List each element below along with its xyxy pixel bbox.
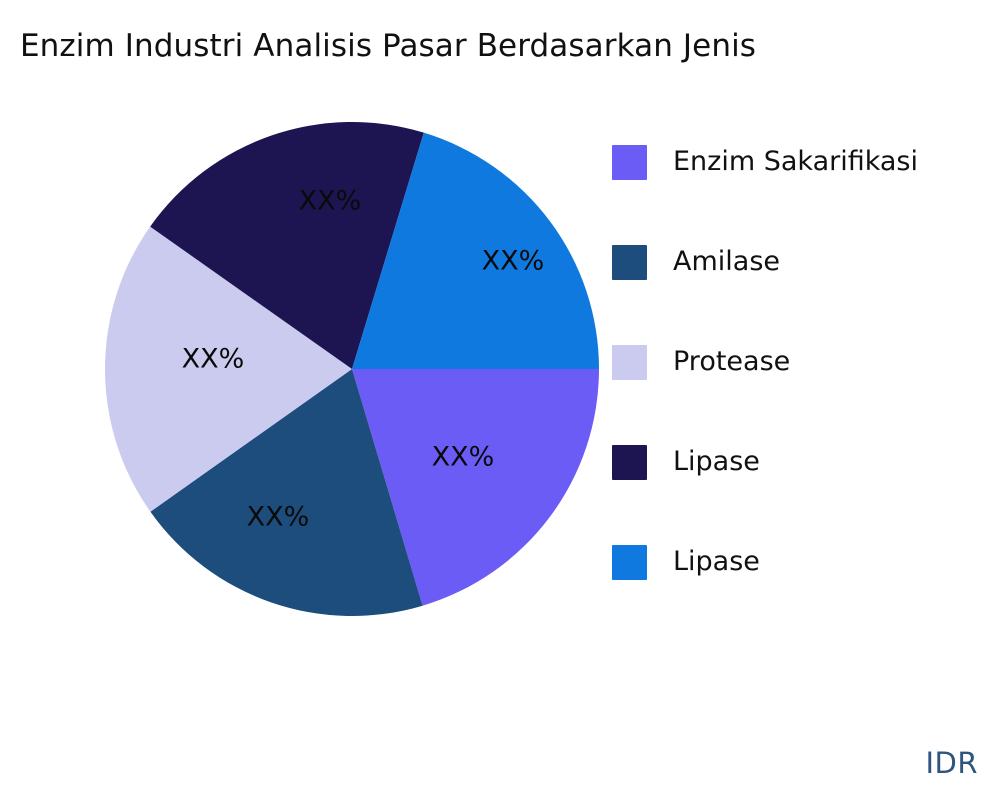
watermark-label: IDR (925, 746, 978, 780)
pie-slice-label: XX% (482, 246, 545, 277)
legend-item[interactable]: Protease (612, 312, 992, 412)
pie-chart: XX%XX%XX%XX%XX% (0, 90, 620, 660)
legend-color-swatch (612, 545, 647, 580)
pie-slice-label: XX% (182, 344, 245, 375)
legend-color-swatch (612, 345, 647, 380)
pie-slice-label: XX% (432, 442, 495, 473)
legend-item-label: Protease (673, 346, 790, 378)
legend-color-swatch (612, 145, 647, 180)
pie-slice-label: XX% (247, 502, 310, 533)
legend-color-swatch (612, 245, 647, 280)
legend-item-label: Enzim Sakarifikasi (673, 146, 918, 178)
page-title: Enzim Industri Analisis Pasar Berdasarka… (20, 26, 960, 66)
legend-color-swatch (612, 445, 647, 480)
legend-item-label: Lipase (673, 546, 760, 578)
legend-item[interactable]: Enzim Sakarifikasi (612, 112, 992, 212)
pie-slice-label: XX% (299, 186, 362, 217)
legend-item[interactable]: Amilase (612, 212, 992, 312)
pie-chart-svg: XX%XX%XX%XX%XX% (0, 90, 620, 660)
chart-page: Enzim Industri Analisis Pasar Berdasarka… (0, 0, 1000, 800)
chart-legend: Enzim SakarifikasiAmilaseProteaseLipaseL… (612, 112, 992, 612)
legend-item-label: Lipase (673, 446, 760, 478)
legend-item[interactable]: Lipase (612, 512, 992, 612)
legend-item[interactable]: Lipase (612, 412, 992, 512)
legend-item-label: Amilase (673, 246, 780, 278)
